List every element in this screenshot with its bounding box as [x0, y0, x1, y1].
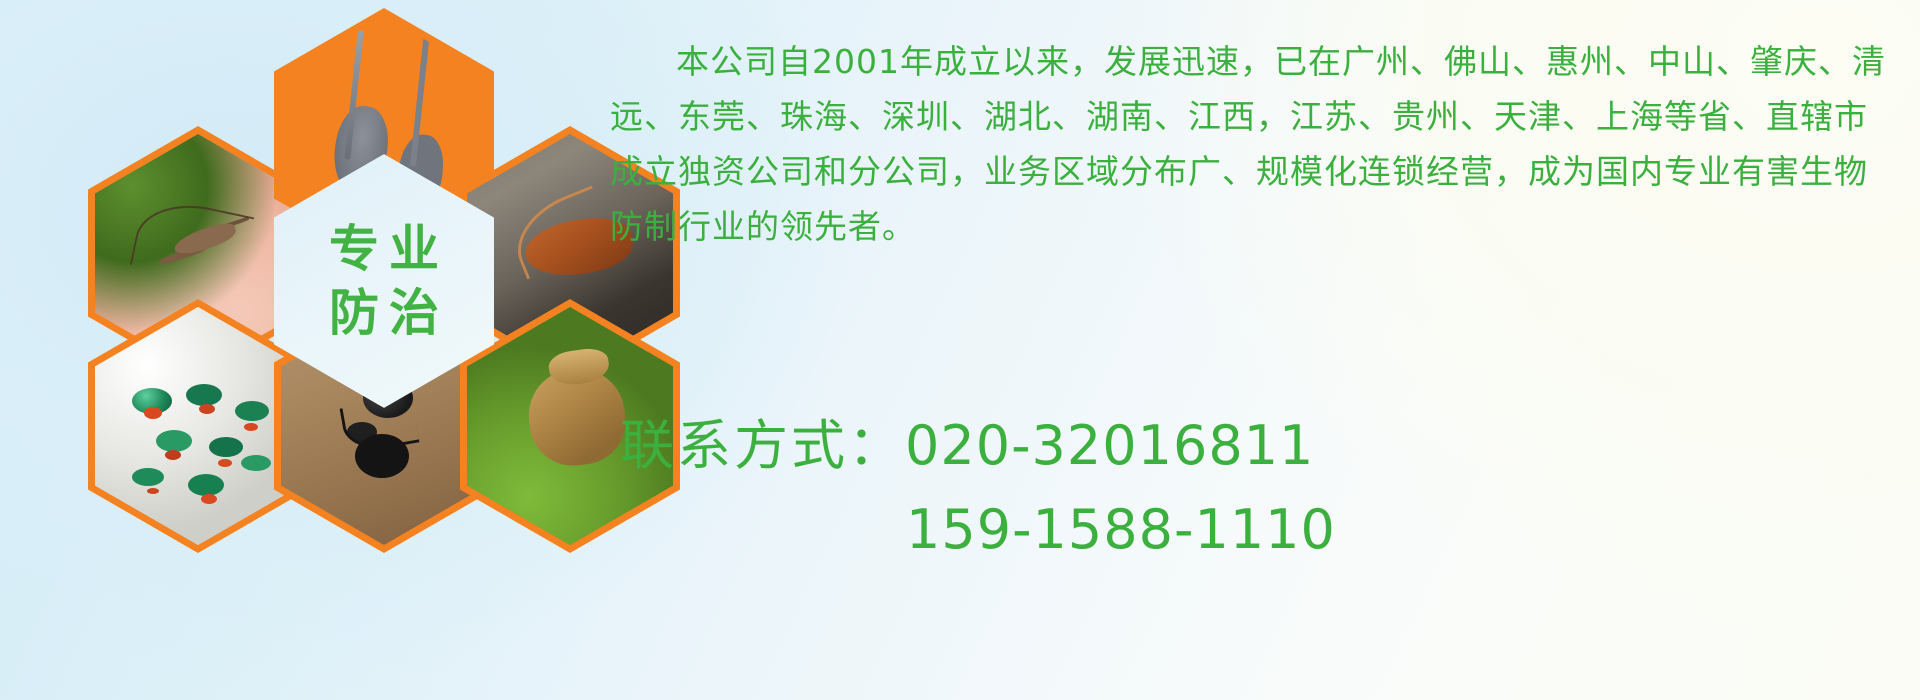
flies-photo [95, 307, 301, 545]
contact-block: 联系方式：020-32016811 159-1588-1110 [620, 404, 1820, 572]
contact-phone-primary[interactable]: 020-32016811 [905, 414, 1314, 477]
slogan-line-1: 专业 [319, 224, 449, 274]
promo-banner: 专业 防治 本公司自2001年成立以来，发展迅速，已在广州、佛山、惠州、中山、肇… [0, 0, 1920, 700]
slogan-line-2: 防治 [319, 288, 449, 338]
hex-tile-flies-frame [95, 307, 301, 545]
contact-label: 联系方式： [620, 414, 905, 477]
contact-line-secondary: 159-1588-1110 [620, 488, 1820, 572]
intro-paragraph: 本公司自2001年成立以来，发展迅速，已在广州、佛山、惠州、中山、肇庆、清远、东… [610, 34, 1890, 254]
contact-line-primary: 联系方式：020-32016811 [620, 404, 1820, 488]
hexagon-photo-cluster: 专业 防治 [88, 8, 588, 553]
intro-copy-block: 本公司自2001年成立以来，发展迅速，已在广州、佛山、惠州、中山、肇庆、清远、东… [610, 34, 1890, 254]
contact-phone-secondary[interactable]: 159-1588-1110 [906, 498, 1336, 561]
